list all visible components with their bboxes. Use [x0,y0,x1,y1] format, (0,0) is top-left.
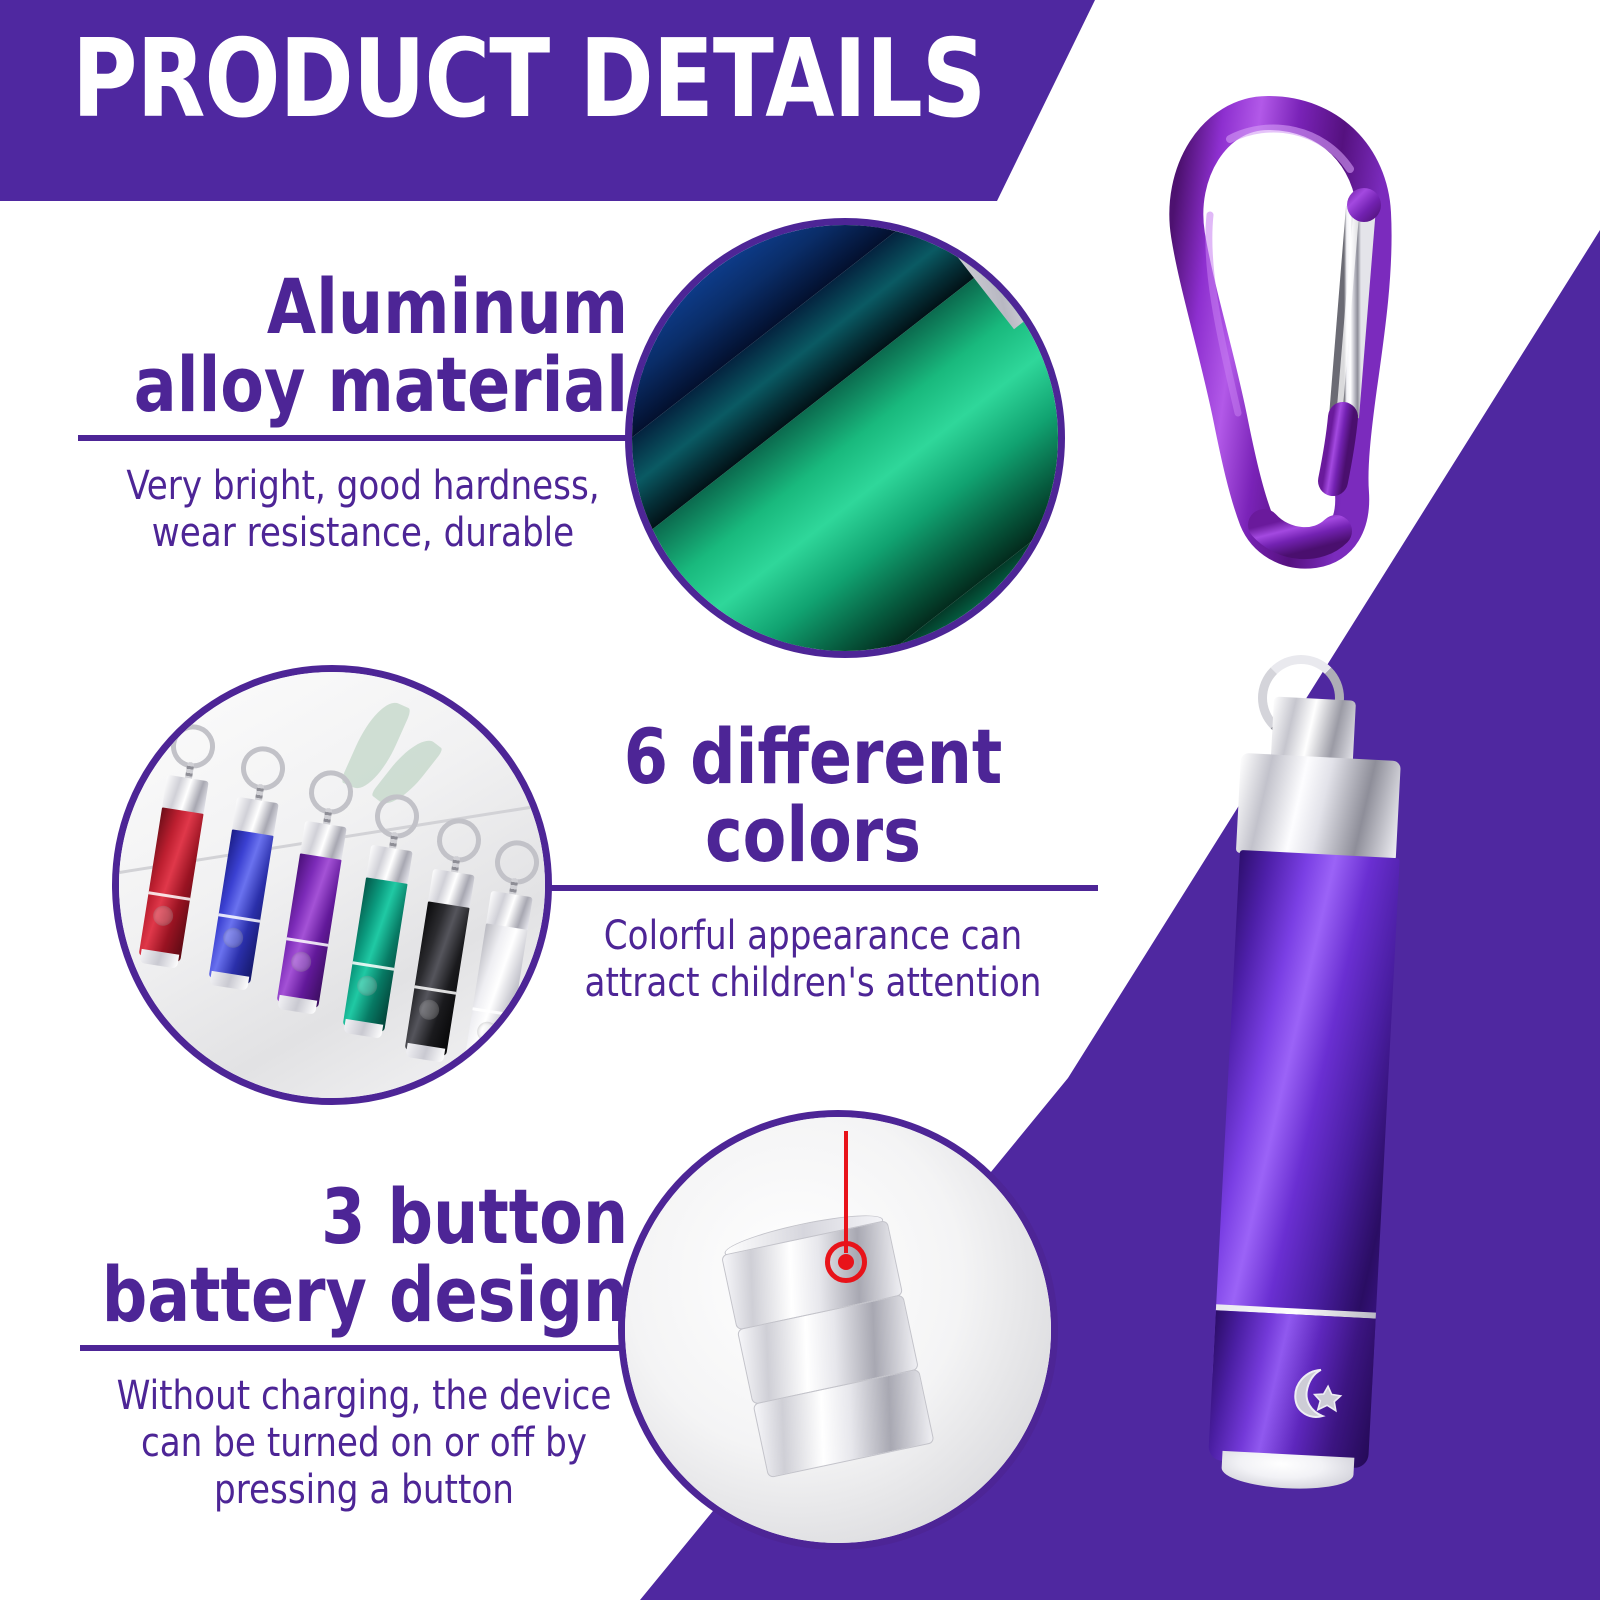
feature-block-aluminum: Aluminum alloy material Very bright, goo… [78,268,648,557]
color-variants-photo [119,672,545,1098]
feature-heading-colors: 6 different colors [548,718,1078,875]
moon-star-emblem-icon [1280,1360,1345,1425]
callout-target-marker [825,1241,867,1283]
carabiner-body [1118,95,1418,650]
feature-block-colors: 6 different colors Colorful appearance c… [528,718,1098,1007]
infographic-canvas: PRODUCT DETAILS Aluminum alloy material … [0,0,1600,1600]
feature-heading-line-2: alloy material [98,346,628,424]
feature-divider-battery [80,1345,648,1351]
feature-heading-line-1: 3 button [100,1178,628,1256]
feature-heading-battery: 3 button battery design [100,1178,628,1335]
feature-subtitle-battery: Without charging, the device can be turn… [94,1373,634,1515]
feature-heading-line-2: battery design [100,1256,628,1334]
photo-bubble-button-batteries [618,1110,1058,1550]
feature-divider-aluminum [78,435,648,441]
feature-heading-line-1: Aluminum [98,268,628,346]
feature-block-battery: 3 button battery design Without charging… [80,1178,648,1514]
feature-subtitle-aluminum: Very bright, good hardness, wear resista… [92,463,634,557]
button-batteries-photo [625,1117,1051,1543]
photo-bubble-aluminum-tubes [625,218,1065,658]
tube-group [625,218,1065,658]
feature-heading-line-2: colors [548,796,1078,874]
hero-flashlight [1153,692,1486,1536]
feature-divider-colors [528,885,1098,891]
flashlight-chrome-cap [1236,753,1401,861]
feature-subtitle-colors: Colorful appearance can attract children… [542,913,1084,1007]
feature-heading-aluminum: Aluminum alloy material [98,268,628,425]
photo-bubble-color-variants [112,665,552,1105]
callout-leader-line [844,1131,848,1253]
carabiner-hook [1118,95,1428,675]
aluminum-tubes-photo [632,225,1058,651]
page-title: PRODUCT DETAILS [72,26,985,134]
feature-heading-line-1: 6 different [548,718,1078,796]
flashlight-lens [1221,1451,1355,1492]
